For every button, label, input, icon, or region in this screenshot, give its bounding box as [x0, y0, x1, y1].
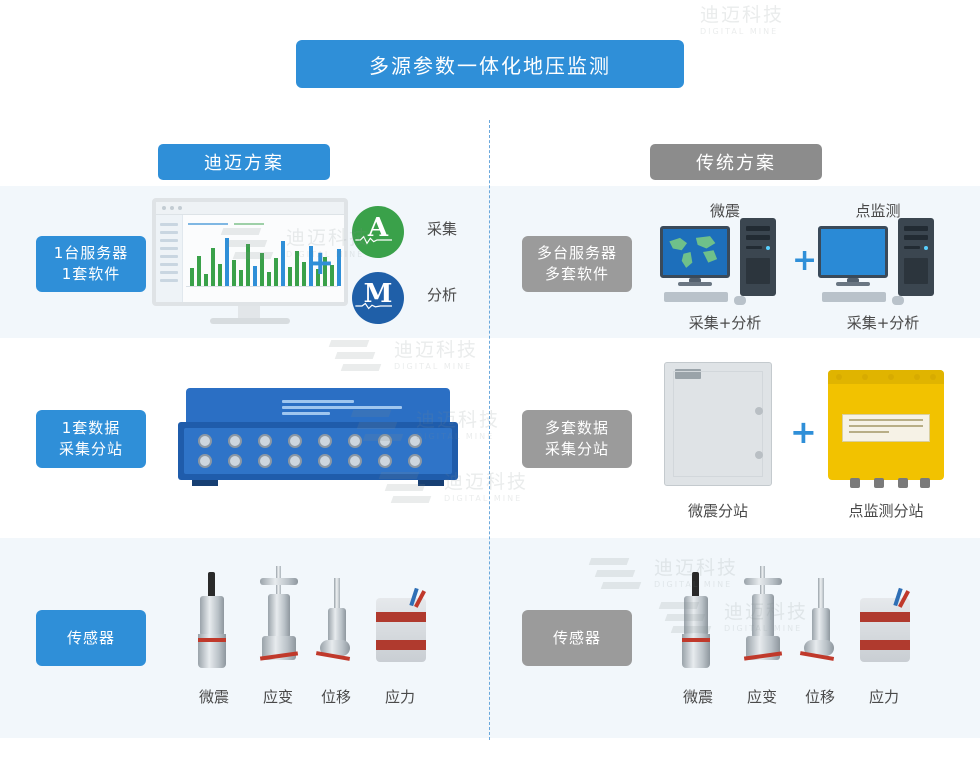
watermark-text-7: 迪迈科技: [700, 0, 784, 27]
row1-left-label-line1: 1台服务器: [54, 243, 129, 264]
page-title: 多源参数一体化地压监测: [296, 40, 684, 88]
computer-1-keyboard: [664, 292, 728, 302]
sensor-label-right-3: 位移: [788, 686, 852, 707]
sensor-microseismic-right: [676, 572, 720, 672]
monitor-sidebar: [156, 215, 183, 302]
monitor-base: [210, 318, 290, 324]
row1-right-item2-bottom: 采集+分析: [818, 312, 948, 333]
column-header-right: 传统方案: [650, 144, 822, 180]
row3-right-label: 传感器: [522, 610, 632, 666]
sensor-label-left-4: 应力: [368, 686, 432, 707]
sensor-label-right-4: 应力: [852, 686, 916, 707]
row2-left-label-line1: 1套数据: [62, 418, 121, 439]
sensor-label-right-1: 微震: [666, 686, 730, 707]
row2-right-label-line2: 采集分站: [545, 439, 609, 460]
watermark-7: 迪迈科技 DIGITAL MINE: [700, 0, 784, 36]
world-map-graphic: [663, 229, 727, 275]
row2-left-label: 1套数据 采集分站: [36, 410, 146, 468]
row2-right-item2-caption: 点监测分站: [820, 500, 952, 521]
sensor-displacement-right: [798, 578, 842, 674]
sensor-stress-right: [856, 592, 914, 672]
collect-label: 采集: [412, 218, 472, 239]
row1-left-label: 1台服务器 1套软件: [36, 236, 146, 292]
sensor-label-right-2: 应变: [730, 686, 794, 707]
computer-1-tower: [740, 218, 776, 296]
sensor-label-left-3: 位移: [304, 686, 368, 707]
sensor-strain-right: [738, 566, 788, 674]
row3-right-label-line1: 传感器: [553, 628, 601, 649]
row1-right-item1-bottom: 采集+分析: [660, 312, 790, 333]
analyze-logo-icon: M: [352, 272, 404, 324]
row2-right-label: 多套数据 采集分站: [522, 410, 632, 468]
sensor-label-left-2: 应变: [246, 686, 310, 707]
row1-right-label: 多台服务器 多套软件: [522, 236, 632, 292]
row2-right-label-line1: 多套数据: [545, 418, 609, 439]
sensor-strain-left: [254, 566, 304, 674]
analysis-wave-icon: [352, 301, 395, 311]
waveform-icon: [352, 235, 395, 245]
row1-left-label-line2: 1套软件: [62, 264, 121, 285]
column-divider: [489, 120, 490, 740]
collect-logo-icon: A: [352, 206, 404, 258]
computer-2-monitor: [818, 226, 888, 286]
computer-1-monitor: [660, 226, 730, 286]
sensor-microseismic-left: [192, 572, 236, 672]
watermark-subtext-7: DIGITAL MINE: [700, 27, 784, 36]
device-front-panel: [184, 428, 452, 474]
row1-right-label-line2: 多套软件: [545, 264, 609, 285]
computer-2-tower: [898, 218, 934, 296]
point-monitoring-nameplate: [842, 414, 930, 442]
row1-right-plus: +: [792, 246, 817, 276]
device-foot-left: [192, 480, 218, 486]
row2-left-label-line2: 采集分站: [59, 439, 123, 460]
computer-2-mouse: [892, 296, 904, 305]
monitor-titlebar: [156, 202, 344, 215]
sensor-stress-left: [372, 592, 430, 672]
computer-2-keyboard: [822, 292, 886, 302]
computer-1-mouse: [734, 296, 746, 305]
row2-right-plus: +: [790, 416, 817, 448]
analyze-label: 分析: [412, 284, 472, 305]
data-acquisition-substation-illustration: [178, 388, 458, 498]
column-header-left: 迪迈方案: [158, 144, 330, 180]
row3-left-label: 传感器: [36, 610, 146, 666]
device-branding: [282, 400, 402, 414]
row1-left-plus: +: [306, 246, 335, 280]
sensor-displacement-left: [314, 578, 358, 674]
row2-right-item1-caption: 微震分站: [658, 500, 778, 521]
microseismic-substation-cabinet: [664, 362, 772, 486]
row1-right-label-line1: 多台服务器: [537, 243, 617, 264]
row3-left-label-line1: 传感器: [67, 628, 115, 649]
infographic-root: 多源参数一体化地压监测 迪迈方案 传统方案 1台服务器 1套软件: [0, 0, 980, 783]
device-foot-right: [418, 480, 444, 486]
sensor-label-left-1: 微震: [182, 686, 246, 707]
point-monitoring-substation-box: [828, 370, 944, 480]
